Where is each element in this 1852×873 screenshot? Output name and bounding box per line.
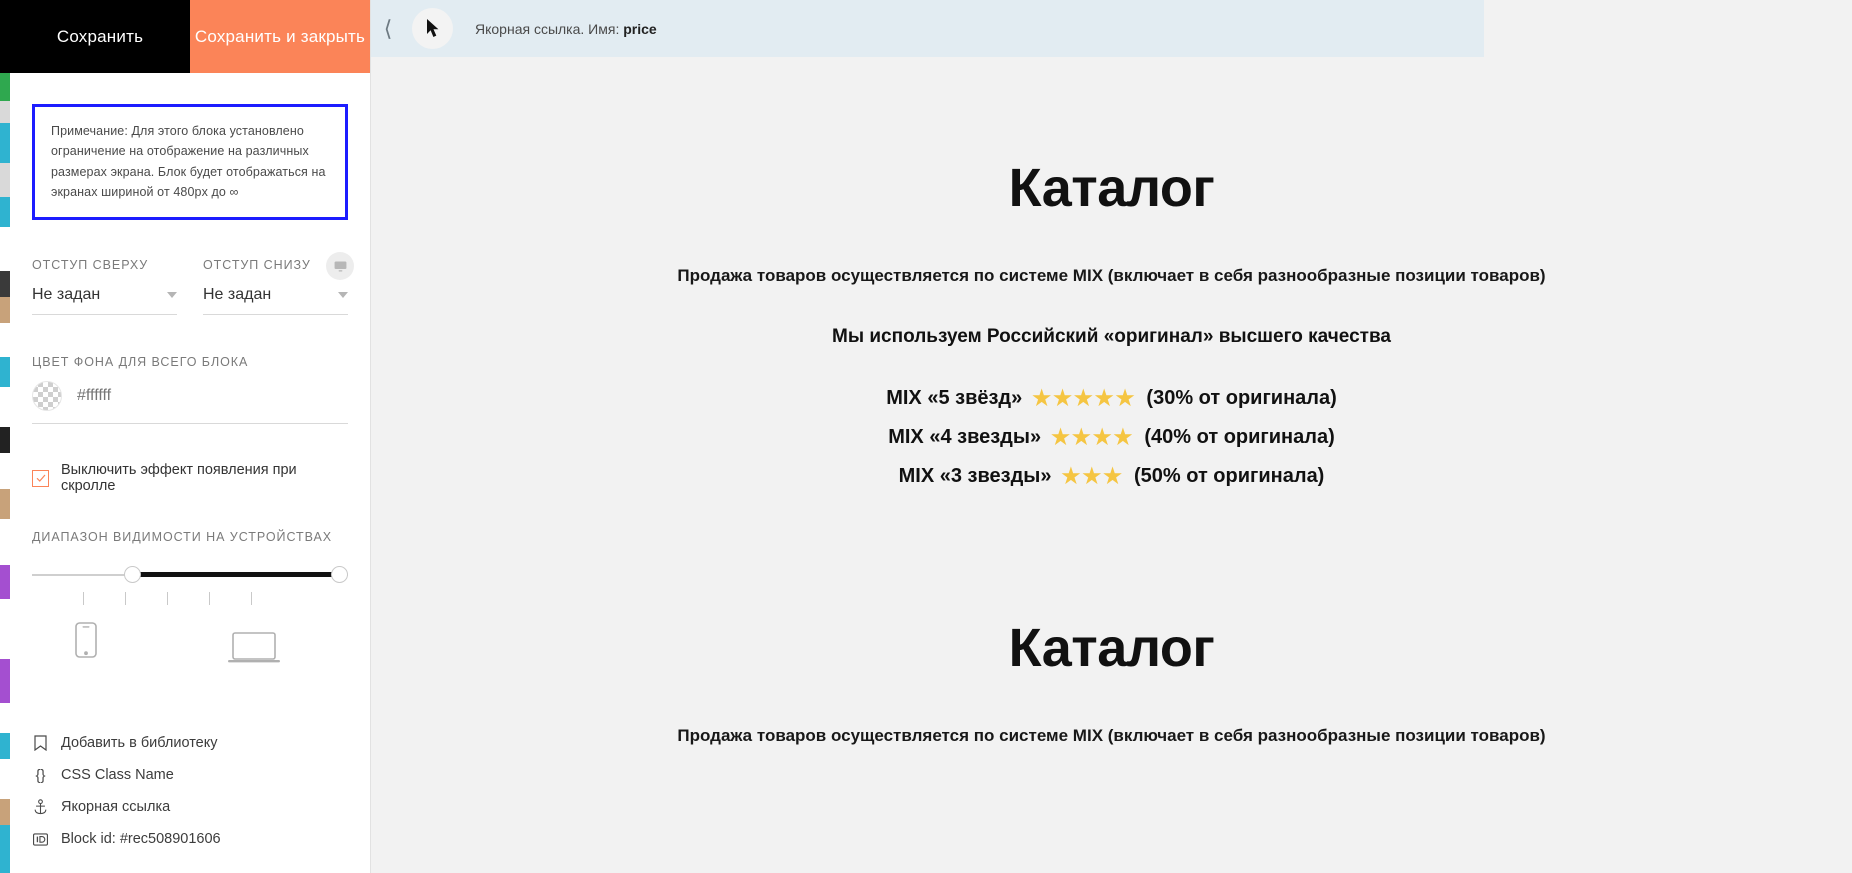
block-settings-sidebar: Сохранить Сохранить и закрыть Примечание… — [10, 0, 371, 873]
page-canvas: Каталог Продажа товаров осуществляется п… — [371, 57, 1852, 873]
chevron-down-icon — [167, 292, 177, 298]
disable-scroll-effect-label: Выключить эффект появления при скролле — [61, 462, 348, 494]
editor-root: Сохранить Сохранить и закрыть Примечание… — [0, 0, 1852, 873]
visibility-note: Примечание: Для этого блока установлено … — [32, 104, 348, 220]
slider-fill — [139, 572, 340, 577]
anchor-info-text: Якорная ссылка. Имя: price — [475, 21, 657, 37]
chevron-down-icon — [338, 292, 348, 298]
mix-label: MIX «5 звёзд» — [886, 387, 1022, 410]
mix-row: MIX «5 звёзд» ★★★★★ (30% от оригинала) — [371, 386, 1852, 411]
add-to-library-link[interactable]: Добавить в библиотеку — [32, 727, 332, 759]
catalog-block-2: Каталог Продажа товаров осуществляется п… — [371, 617, 1852, 746]
catalog-block-1: Каталог Продажа товаров осуществляется п… — [371, 157, 1852, 489]
disable-scroll-effect-row[interactable]: Выключить эффект появления при скролле — [32, 462, 348, 494]
mix-note: (50% от оригинала) — [1134, 465, 1324, 488]
visibility-range-slider[interactable] — [32, 566, 348, 584]
star-rating-icon: ★★★★ — [1051, 425, 1134, 450]
sidebar-links: Добавить в библиотеку {} CSS Class Name … — [32, 727, 332, 855]
mix-note: (30% от оригинала) — [1146, 387, 1336, 410]
padding-fields-row: ОТСТУП СВЕРХУ Не задан ОТСТУП СНИЗУ Не з… — [32, 258, 348, 315]
catalog-paragraph-3: Продажа товаров осуществляется по систем… — [371, 726, 1852, 746]
catalog-title-2: Каталог — [371, 617, 1852, 679]
anchor-icon — [32, 799, 49, 815]
padding-bottom-select[interactable]: Не задан — [203, 286, 348, 315]
catalog-paragraph-2: Мы используем Российский «оригинал» высш… — [371, 326, 1852, 348]
padding-top-select[interactable]: Не задан — [32, 286, 177, 315]
save-and-close-button[interactable]: Сохранить и закрыть — [190, 0, 370, 73]
anchor-badge — [412, 8, 453, 49]
background-color-input[interactable] — [77, 387, 217, 405]
collapse-chevron-icon[interactable]: ⟨ — [371, 16, 405, 42]
save-button[interactable]: Сохранить — [10, 0, 190, 73]
device-icons — [32, 622, 348, 682]
add-to-library-label: Добавить в библиотеку — [61, 735, 218, 751]
star-rating-icon: ★★★★★ — [1032, 386, 1136, 411]
css-class-name-link[interactable]: {} CSS Class Name — [32, 759, 332, 791]
star-rating-icon: ★★★ — [1062, 464, 1124, 489]
anchor-info-prefix: Якорная ссылка. Имя: — [475, 21, 623, 37]
anchor-link-label: Якорная ссылка — [61, 799, 170, 815]
anchor-info-bar: ⟨ Якорная ссылка. Имя: price — [371, 0, 1484, 57]
device-settings-button[interactable] — [326, 252, 354, 280]
disable-scroll-effect-checkbox[interactable] — [32, 470, 49, 487]
braces-icon: {} — [32, 767, 49, 784]
visibility-range-block: ДИАПАЗОН ВИДИМОСТИ НА УСТРОЙСТВАХ — [32, 530, 348, 682]
slider-handle-min[interactable] — [124, 566, 141, 583]
mix-row: MIX «3 звезды» ★★★ (50% от оригинала) — [371, 464, 1852, 489]
color-swatch[interactable] — [32, 381, 62, 411]
cursor-icon — [424, 18, 441, 39]
save-buttons-row: Сохранить Сохранить и закрыть — [10, 0, 370, 73]
background-color-row — [32, 381, 348, 424]
mix-row: MIX «4 звезды» ★★★★ (40% от оригинала) — [371, 425, 1852, 450]
bookmark-icon — [32, 735, 49, 751]
catalog-paragraph-1: Продажа товаров осуществляется по систем… — [371, 266, 1852, 286]
padding-top-label: ОТСТУП СВЕРХУ — [32, 258, 177, 272]
catalog-title-1: Каталог — [371, 157, 1852, 219]
mobile-icon — [75, 622, 97, 663]
anchor-link[interactable]: Якорная ссылка — [32, 791, 332, 823]
slider-ticks — [32, 592, 348, 610]
block-id-row[interactable]: Block id: #rec508901606 — [32, 823, 332, 855]
sidebar-body: Примечание: Для этого блока установлено … — [10, 73, 370, 873]
page-preview: ⟨ Якорная ссылка. Имя: price Каталог Про… — [371, 0, 1852, 873]
mix-label: MIX «3 звезды» — [899, 465, 1052, 488]
monitor-icon — [333, 259, 348, 274]
slider-handle-max[interactable] — [331, 566, 348, 583]
background-color-label: ЦВЕТ ФОНА ДЛЯ ВСЕГО БЛОКА — [32, 355, 348, 369]
anchor-info-name: price — [623, 21, 656, 37]
mix-note: (40% от оригинала) — [1144, 426, 1334, 449]
block-color-strip — [0, 0, 10, 873]
padding-top-field: ОТСТУП СВЕРХУ Не задан — [32, 258, 177, 315]
visibility-range-label: ДИАПАЗОН ВИДИМОСТИ НА УСТРОЙСТВАХ — [32, 530, 348, 544]
background-color-block: ЦВЕТ ФОНА ДЛЯ ВСЕГО БЛОКА — [32, 355, 348, 424]
check-icon — [35, 472, 47, 484]
mix-label: MIX «4 звезды» — [888, 426, 1041, 449]
padding-bottom-value: Не задан — [203, 286, 271, 304]
block-id-label: Block id: #rec508901606 — [61, 831, 221, 847]
desktop-icon — [228, 632, 280, 669]
css-class-name-label: CSS Class Name — [61, 767, 174, 783]
id-icon — [32, 833, 49, 846]
padding-top-value: Не задан — [32, 286, 100, 304]
